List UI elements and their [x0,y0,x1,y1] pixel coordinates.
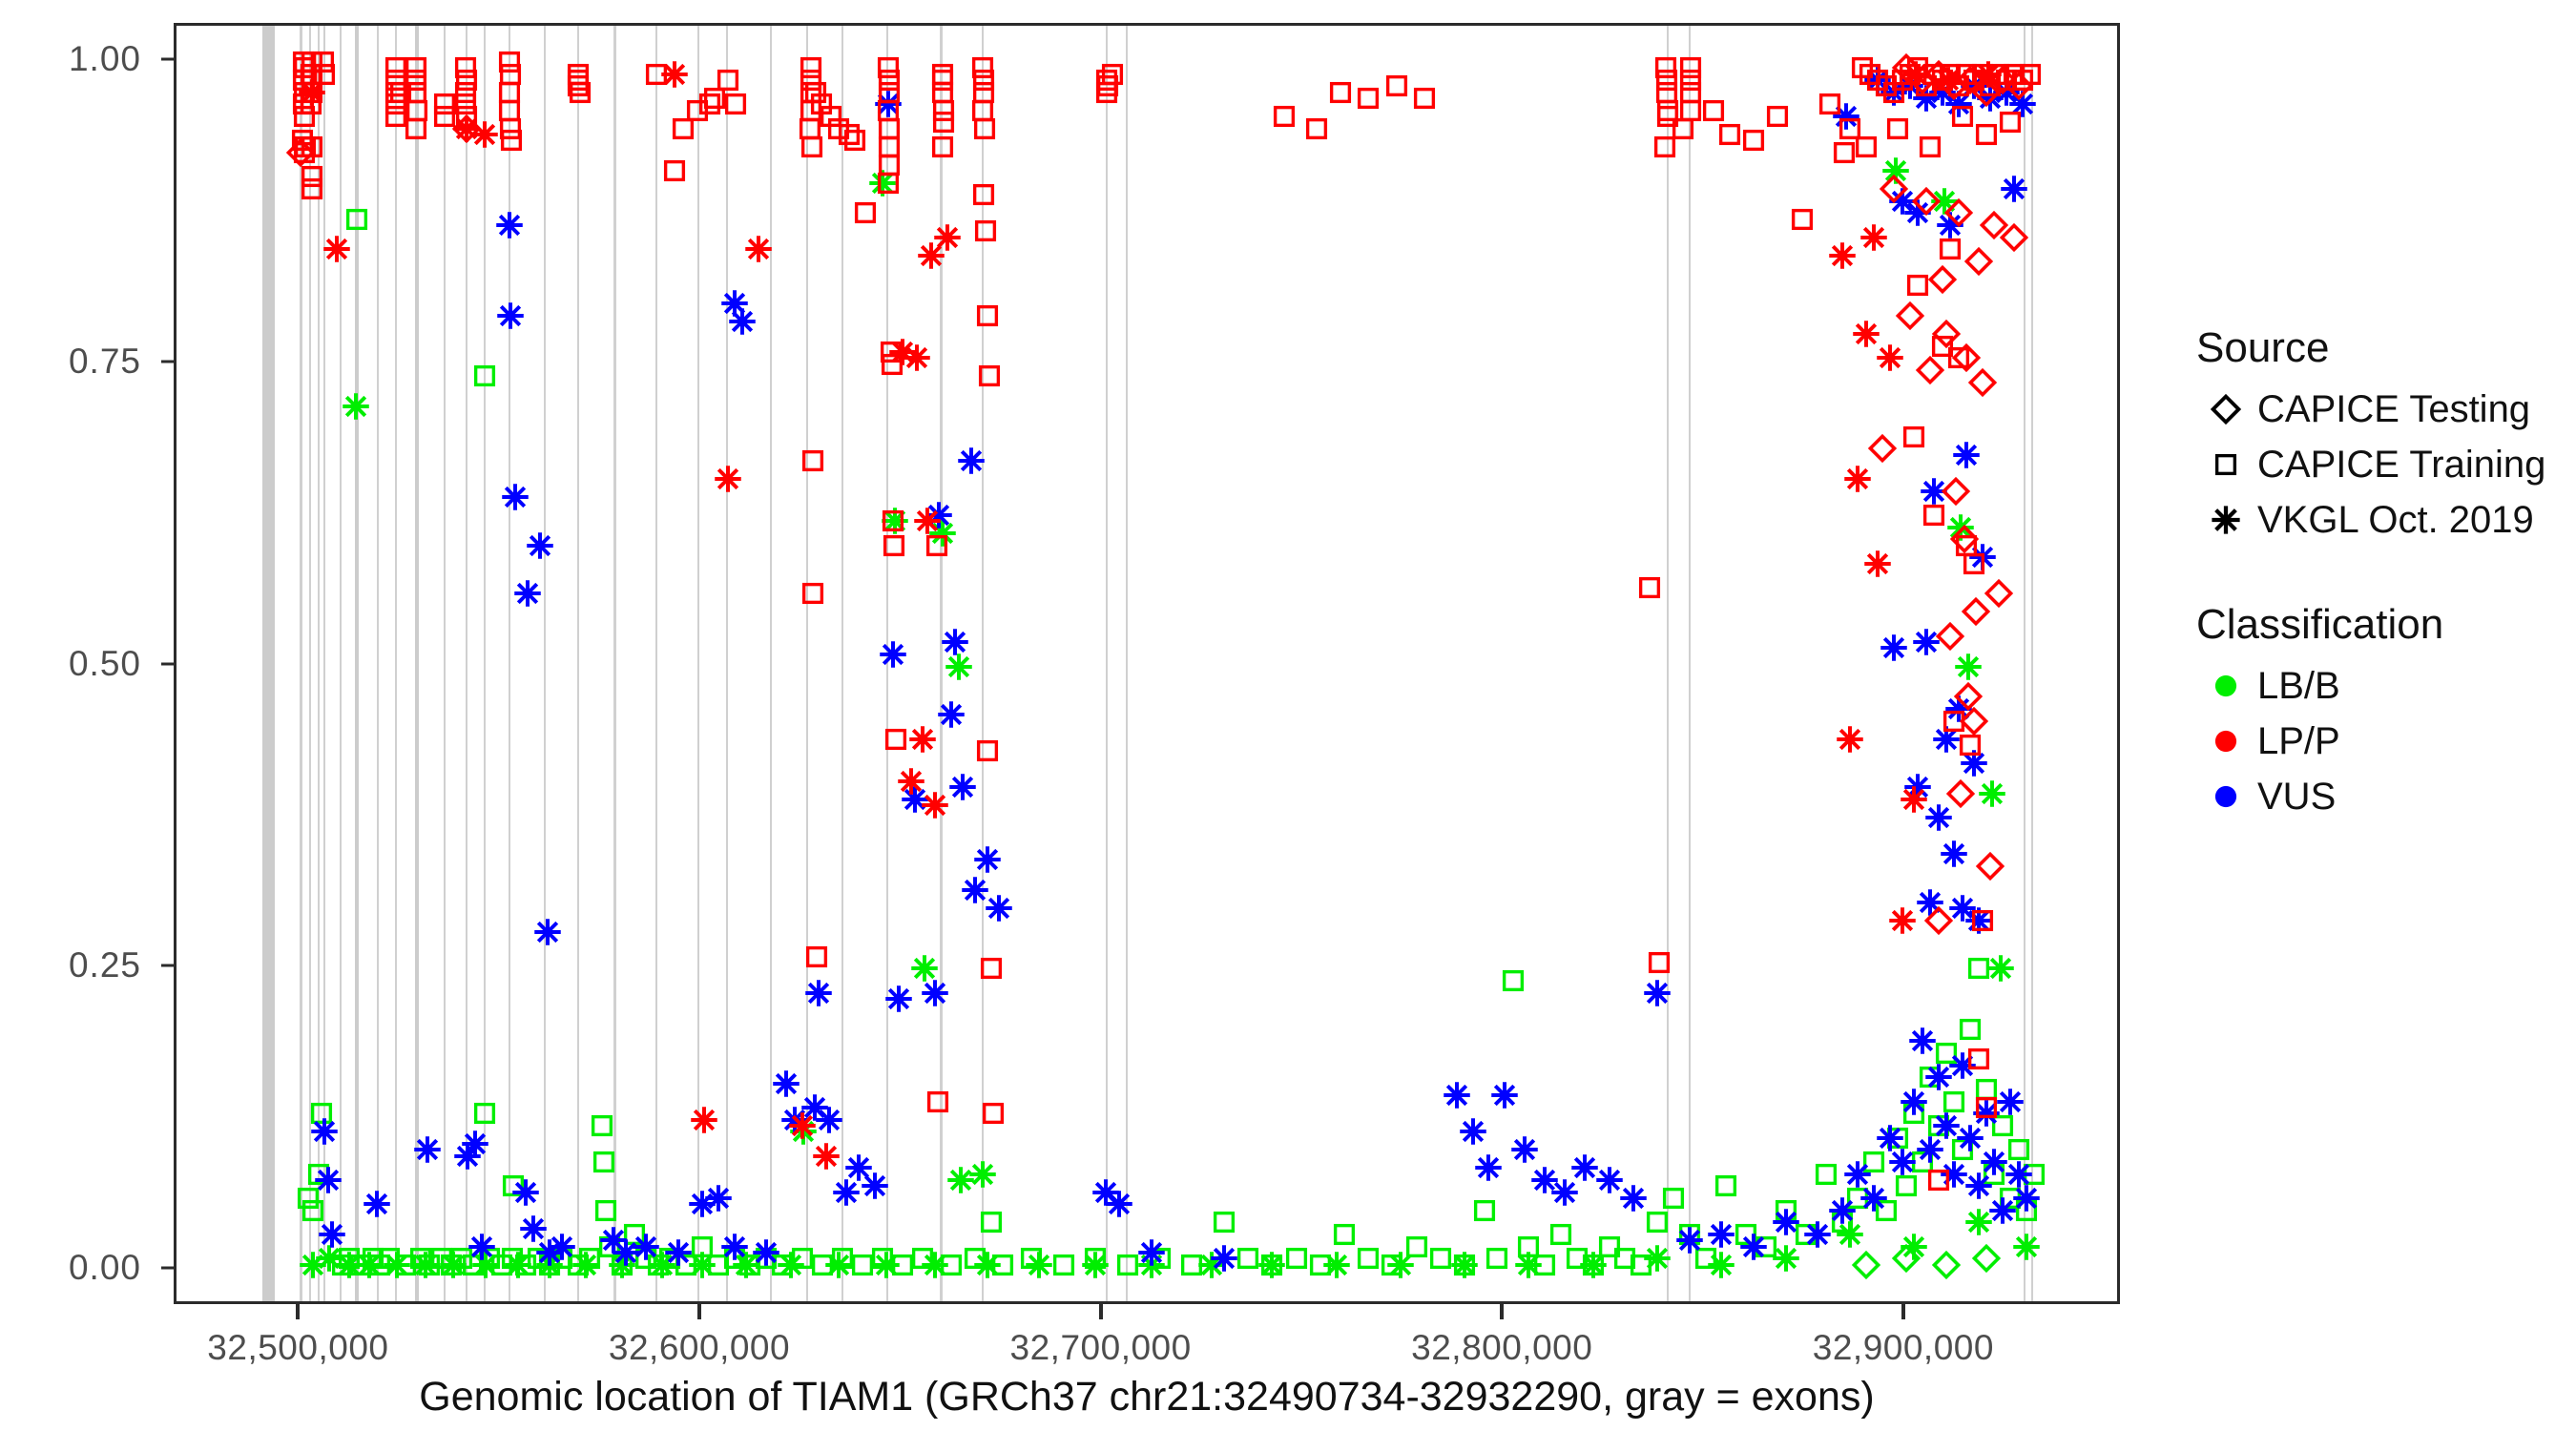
data-point [1655,104,1680,129]
data-point [1645,1210,1670,1234]
data-point [799,80,823,105]
data-point [810,1253,835,1277]
data-point [1701,98,1726,123]
data-point [930,80,955,105]
data-point [1899,784,1929,815]
data-point [972,844,1003,875]
data-point [512,578,543,609]
x-tick-label: 32,700,000 [1010,1328,1192,1368]
data-point [312,62,337,87]
data-point [1831,101,1861,132]
data-point [1894,1173,1919,1198]
data-point [1452,1253,1477,1277]
data-point [1966,1047,1991,1071]
data-point [1412,86,1437,111]
data-point [687,1250,717,1280]
legend-title-classification: Classification [2196,601,2557,649]
data-point [1868,434,1897,463]
data-point [1259,1253,1284,1277]
data-point [547,1232,577,1262]
data-point [647,1250,677,1280]
data-point [503,1250,533,1280]
data-point [1931,1110,1962,1141]
data-point [776,1250,806,1280]
data-point [1080,1250,1111,1280]
data-point [877,153,902,177]
data-point [452,1141,483,1172]
data-point [500,482,530,512]
data-point [408,1246,433,1271]
data-point [1963,1171,1994,1201]
data-point [388,80,413,105]
data-point [571,1250,601,1280]
data-point [1945,512,1976,543]
data-point [644,62,669,87]
data-point [979,1210,1004,1234]
data-point [940,627,970,657]
data-point [494,210,525,240]
data-point [1899,1232,1929,1262]
data-point [1654,80,1679,105]
data-point [1458,1116,1488,1147]
data-point [1115,1253,1140,1277]
data-point [1845,1186,1870,1211]
data-point [1771,1243,1801,1274]
data-point [1923,802,1954,833]
data-point [1954,682,1983,711]
data-point [611,1237,641,1268]
data-point [1196,1250,1227,1280]
legend-item[interactable]: LB/B [2194,658,2557,714]
data-point [286,138,315,167]
data-point [876,171,901,196]
data-point [1951,440,1982,470]
data-point [1578,1250,1609,1280]
data-point [1714,1173,1738,1198]
data-point [1915,1134,1945,1165]
data-point [1472,1198,1497,1223]
data-point [1024,1250,1054,1280]
data-point [634,1246,658,1271]
data-point [322,234,352,264]
data-point [1932,320,1961,348]
data-point [1916,356,1944,384]
data-point [990,1253,1015,1277]
data-point [930,62,955,87]
data-point [568,80,592,105]
data-point [1706,1219,1736,1250]
data-point [1975,83,2005,114]
legend-item-label: VUS [2257,776,2336,819]
legend-title-source: Source [2196,324,2557,372]
data-point [971,68,996,93]
data-point [344,207,369,232]
data-point [518,1213,549,1244]
legend-item-label: CAPICE Training [2257,444,2545,487]
data-point [975,303,1000,328]
data-point [662,158,687,183]
data-point [1827,240,1858,271]
data-point [451,114,482,144]
data-point [1936,622,1964,651]
data-point [1927,77,1958,108]
data-point [1970,908,1995,933]
data-point [1964,247,1993,276]
data-point [659,59,690,90]
data-point [1912,187,1941,216]
data-point [916,240,946,271]
data-point [1922,62,1946,87]
filled-circle-icon [2194,782,2257,811]
data-point [1304,116,1329,141]
data-point [1880,156,1911,186]
data-point [1879,633,1909,663]
legend-item[interactable]: VUS [2194,769,2557,824]
data-point [1959,748,1989,778]
data-point [871,1250,902,1280]
data-point [525,530,555,561]
data-point [1942,1089,1966,1114]
data-point [1754,1234,1778,1259]
data-point [727,306,758,337]
data-point [971,80,996,105]
y-tick-label: 1.00 [69,39,141,79]
data-point [1968,368,1997,397]
data-point [469,119,500,150]
data-point [975,738,1000,763]
legend-spacer [2194,548,2557,601]
data-point [1978,73,2003,98]
data-point [925,1089,950,1114]
data-point [2022,1162,2046,1187]
data-point [1974,1095,1999,1120]
data-point [1905,273,1930,298]
data-point [550,1246,574,1271]
data-point [292,104,317,129]
data-point [1901,425,1926,449]
data-point [311,50,336,74]
legend-item[interactable]: LP/P [2194,714,2557,769]
data-point [981,1101,1006,1126]
data-point [876,98,901,123]
data-point [1865,68,1890,93]
data-point [1257,1250,1287,1280]
data-point [1678,55,1703,80]
data-point [1902,197,1933,228]
data-point [354,1250,384,1280]
data-point [1919,476,1949,507]
data-point [1442,1080,1472,1110]
data-point [706,1253,731,1277]
data-point [936,699,966,730]
data-point [1902,772,1933,802]
data-point [853,200,878,225]
data-point [1999,174,2029,204]
data-point [971,182,996,207]
data-point [300,80,324,105]
data-point [1974,1077,1999,1102]
data-point [301,1198,325,1223]
data-point [1959,71,1989,101]
data-point [1875,1123,1905,1153]
data-point [809,92,834,116]
data-point [1678,68,1703,93]
data-point [1971,1098,2002,1129]
x-tick-label: 32,900,000 [1813,1328,1994,1368]
x-tick-mark [697,1304,701,1319]
data-point [412,1134,443,1165]
data-point [779,1105,810,1135]
y-tick-label: 0.75 [69,342,141,382]
data-point [870,1246,895,1271]
data-point [1947,1050,1978,1081]
data-point [592,1150,616,1174]
data-point [909,953,940,984]
data-point [1910,1150,1935,1174]
data-point [1083,1246,1108,1271]
square-outline-icon [2194,452,2257,477]
data-point [1972,78,2001,107]
data-point [1942,709,1966,734]
data-point [1938,62,1963,87]
data-point [1943,89,1974,119]
data-point [1946,73,1971,98]
data-point [1655,98,1680,123]
data-point [337,1246,362,1271]
data-point [1905,55,1930,80]
data-point [453,55,478,80]
data-point [882,533,906,558]
data-point [799,68,823,93]
data-point [702,86,727,111]
data-point [716,68,740,93]
data-point [405,98,429,123]
data-point [432,104,457,129]
data-point [883,727,908,752]
data-point [1973,59,2004,90]
data-point [1901,1101,1926,1126]
data-point [1892,1244,1921,1273]
data-point [1944,198,1973,227]
data-point [1385,1250,1416,1280]
data-point [1852,1251,1880,1279]
data-point [1516,1234,1541,1259]
data-point [2006,1137,2031,1162]
data-point [799,55,823,80]
data-point [1929,186,1960,217]
data-point [1998,1186,2023,1211]
data-point [1647,950,1672,975]
data-point [947,772,978,802]
data-point [804,944,829,969]
data-point [439,1253,464,1277]
data-point [1987,1195,2018,1226]
data-point [597,1234,622,1259]
data-point [1321,1250,1352,1280]
data-point [883,984,914,1014]
data-point [790,1246,815,1271]
data-point [1972,1244,2001,1273]
data-point [977,363,1002,388]
data-point [1939,1159,1969,1190]
data-point [973,218,998,243]
data-point [291,92,316,116]
data-point [799,98,823,123]
data-point [2014,1198,2039,1223]
data-point [1100,62,1125,87]
data-point [1874,73,1899,98]
data-point [1051,1253,1076,1277]
x-axis-title: Genomic location of TIAM1 (GRCh37 chr21:… [174,1374,2120,1421]
data-point [1955,1123,1985,1153]
data-point [877,68,902,93]
data-point [1618,1183,1649,1213]
data-point [803,80,828,105]
data-point [1653,55,1678,80]
data-point [1612,1246,1637,1271]
data-point [972,116,997,141]
data-point [1911,83,1942,114]
y-tick-label: 0.50 [69,644,141,684]
data-point [384,68,408,93]
x-tick-label: 32,600,000 [609,1328,790,1368]
data-point [1935,210,1965,240]
data-point [1473,1152,1504,1183]
data-point [719,1232,750,1262]
data-point [877,116,902,141]
data-point [1962,597,1990,626]
data-point [2007,89,2038,119]
data-point [1950,104,1975,129]
data-point [1862,65,1893,95]
data-point [566,73,591,98]
data-point [1328,80,1353,105]
data-point [1896,301,1924,330]
data-point [1485,1246,1509,1271]
data-point [2011,1183,2042,1213]
data-point [1998,110,2023,135]
filled-circle-icon [2194,672,2257,700]
data-point [1908,66,1937,94]
legend-item[interactable]: VKGL Oct. 2019 [2194,492,2557,548]
data-point [1924,60,1953,89]
data-point [1854,135,1879,159]
data-point [887,337,918,367]
y-tick-label: 0.25 [69,945,141,985]
legend-item[interactable]: CAPICE Testing [2194,382,2557,437]
data-point [1790,207,1815,232]
data-point [1932,1251,1961,1279]
data-point [788,1116,819,1147]
data-point [384,80,408,105]
data-point [309,1116,340,1147]
data-point [1384,73,1409,98]
data-point [1914,73,1939,98]
data-point [607,1250,637,1280]
data-point [1930,68,1955,93]
x-tick-label: 32,500,000 [207,1328,388,1368]
data-point [393,1253,418,1277]
data-point [1966,956,1991,981]
data-point [470,1250,501,1280]
data-point [689,1105,719,1135]
legend-item[interactable]: CAPICE Training [2194,437,2557,492]
data-point [1879,77,1909,108]
data-point [910,1246,935,1271]
data-point [826,116,851,141]
data-point [1859,1183,1889,1213]
data-point [924,500,954,530]
data-point [1901,59,1931,90]
data-point [1597,1234,1622,1259]
data-point [842,128,867,153]
data-point [1939,839,1969,869]
data-point [1272,104,1297,129]
data-point [1771,1207,1801,1237]
y-tick-mark [161,360,174,363]
data-point [1991,77,2022,108]
data-point [881,508,905,533]
data-point [1956,66,1984,94]
data-point [1637,575,1662,600]
data-point [489,1253,514,1277]
data-point [1947,893,1978,923]
data-point [1308,1253,1333,1277]
data-point [2010,68,2035,93]
data-point [1549,1177,1580,1208]
data-point [1898,62,1922,87]
data-point [622,1222,647,1247]
data-point [1887,905,1918,936]
data-point [907,724,938,755]
data-point [1842,1159,1873,1190]
data-point [1892,53,1921,82]
data-point [293,135,318,159]
data-point [432,92,457,116]
data-point [1985,953,2016,984]
plot-canvas [177,26,2117,1301]
data-point [1950,525,1979,553]
data-point [534,1250,565,1280]
data-point [382,1250,412,1280]
data-point [1850,55,1875,80]
data-point [944,652,974,682]
data-point [1095,73,1120,98]
data-point [534,1237,565,1268]
data-point [819,104,843,129]
data-point [1428,1246,1453,1271]
data-point [317,1219,347,1250]
data-point [1887,186,1918,217]
data-point [690,1234,715,1259]
data-point [814,1105,844,1135]
data-point [787,1110,818,1141]
data-point [404,68,428,93]
data-point [1943,694,1974,724]
data-point [1835,724,1865,755]
data-point [1513,1250,1544,1280]
data-point [703,1183,734,1213]
x-tick-mark [1099,1304,1103,1319]
data-point [1931,724,1962,755]
data-point [2000,223,2028,252]
data-point [2002,62,2026,87]
data-point [362,1189,392,1219]
data-point [1136,1250,1167,1280]
data-point [341,391,371,422]
data-point [1717,122,1742,147]
data-point [1926,1168,1951,1192]
